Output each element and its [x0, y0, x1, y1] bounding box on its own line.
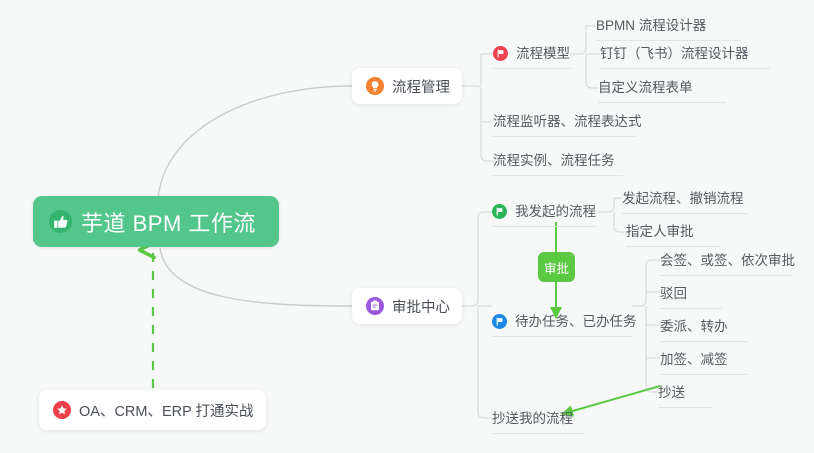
tree-node-dingtalk-designer[interactable]: 钉钉（飞书）流程设计器	[600, 41, 770, 69]
flag-icon	[492, 314, 507, 329]
edge-mine-trunk	[598, 198, 622, 212]
clipboard-icon	[366, 297, 384, 315]
flag-icon	[492, 204, 507, 219]
branch-label-process-management: 流程管理	[392, 76, 450, 97]
tree-label-custom-form: 自定义流程表单	[598, 81, 693, 95]
tree-label-cc: 抄送	[658, 386, 685, 400]
edge-todo-vert	[646, 306, 658, 392]
tree-node-assignee-approval[interactable]: 指定人审批	[626, 219, 721, 247]
tree-node-add-remove-sign[interactable]: 加签、减签	[660, 347, 748, 375]
tree-label-cc-to-me: 抄送我的流程	[492, 412, 573, 426]
edge-process-trunk	[462, 86, 493, 161]
tree-node-instance-task[interactable]: 流程实例、流程任务	[493, 148, 623, 176]
tree-node-cc[interactable]: 抄送	[658, 380, 712, 408]
branch-node-process-management[interactable]: 流程管理	[352, 68, 462, 104]
root-node[interactable]: 芋道 BPM 工作流	[33, 196, 279, 247]
mindmap-canvas: 芋道 BPM 工作流 流程管理 流程模型 BPMN 流程设计器 钉钉（飞书）流程…	[0, 0, 814, 453]
tree-label-instance-task: 流程实例、流程任务	[493, 154, 615, 168]
tree-label-start-cancel: 发起流程、撤销流程	[622, 192, 744, 206]
tree-node-todo-done-tasks[interactable]: 待办任务、已办任务	[492, 309, 632, 337]
tree-node-countersign[interactable]: 会签、或签、依次审批	[660, 248, 792, 276]
edge-model-trunk	[570, 26, 596, 54]
tree-label-assignee-approval: 指定人审批	[626, 225, 694, 239]
tree-label-todo-done-tasks: 待办任务、已办任务	[515, 315, 637, 329]
edge-root-to-process	[158, 86, 352, 200]
flag-icon	[493, 46, 508, 61]
root-label: 芋道 BPM 工作流	[81, 206, 256, 238]
lightbulb-icon	[366, 77, 384, 95]
edge-approval-cc	[478, 306, 492, 418]
edge-todo-trunk	[632, 260, 660, 306]
star-icon	[53, 401, 71, 419]
tree-node-process-model[interactable]: 流程模型	[493, 41, 571, 69]
tree-node-my-initiated[interactable]: 我发起的流程	[492, 199, 597, 227]
branch-node-approval-center[interactable]: 审批中心	[352, 288, 462, 324]
tree-label-countersign: 会签、或签、依次审批	[660, 254, 795, 268]
approve-flow-badge: 审批	[538, 252, 575, 282]
tree-node-bpmn-designer[interactable]: BPMN 流程设计器	[596, 13, 741, 41]
tree-node-reject[interactable]: 驳回	[660, 281, 722, 309]
tree-label-dingtalk-designer: 钉钉（飞书）流程设计器	[600, 47, 749, 61]
tree-label-add-remove-sign: 加签、减签	[660, 353, 728, 367]
thumbs-up-icon	[49, 210, 72, 233]
tree-node-start-cancel[interactable]: 发起流程、撤销流程	[622, 186, 748, 214]
edge-approval-trunk	[462, 212, 492, 306]
tree-node-custom-form[interactable]: 自定义流程表单	[598, 75, 726, 103]
approve-flow-badge-label: 审批	[544, 258, 569, 277]
edge-model-vert	[586, 54, 598, 88]
tree-node-listener-expression[interactable]: 流程监听器、流程表达式	[493, 109, 635, 137]
tree-label-listener-expression: 流程监听器、流程表达式	[493, 115, 642, 129]
integration-node-label: OA、CRM、ERP 打通实战	[79, 400, 254, 421]
tree-label-process-model: 流程模型	[516, 47, 570, 61]
tree-label-delegate-transfer: 委派、转办	[660, 320, 728, 334]
tree-node-cc-to-me[interactable]: 抄送我的流程	[492, 406, 584, 434]
tree-node-delegate-transfer[interactable]: 委派、转办	[660, 314, 748, 342]
integration-node[interactable]: OA、CRM、ERP 打通实战	[39, 390, 266, 430]
branch-label-approval-center: 审批中心	[392, 296, 450, 317]
tree-label-bpmn-designer: BPMN 流程设计器	[596, 19, 706, 33]
edge-root-to-approval	[160, 248, 352, 306]
tree-label-reject: 驳回	[660, 287, 687, 301]
edge-mine-vert	[614, 212, 626, 232]
tree-label-my-initiated: 我发起的流程	[515, 205, 596, 219]
